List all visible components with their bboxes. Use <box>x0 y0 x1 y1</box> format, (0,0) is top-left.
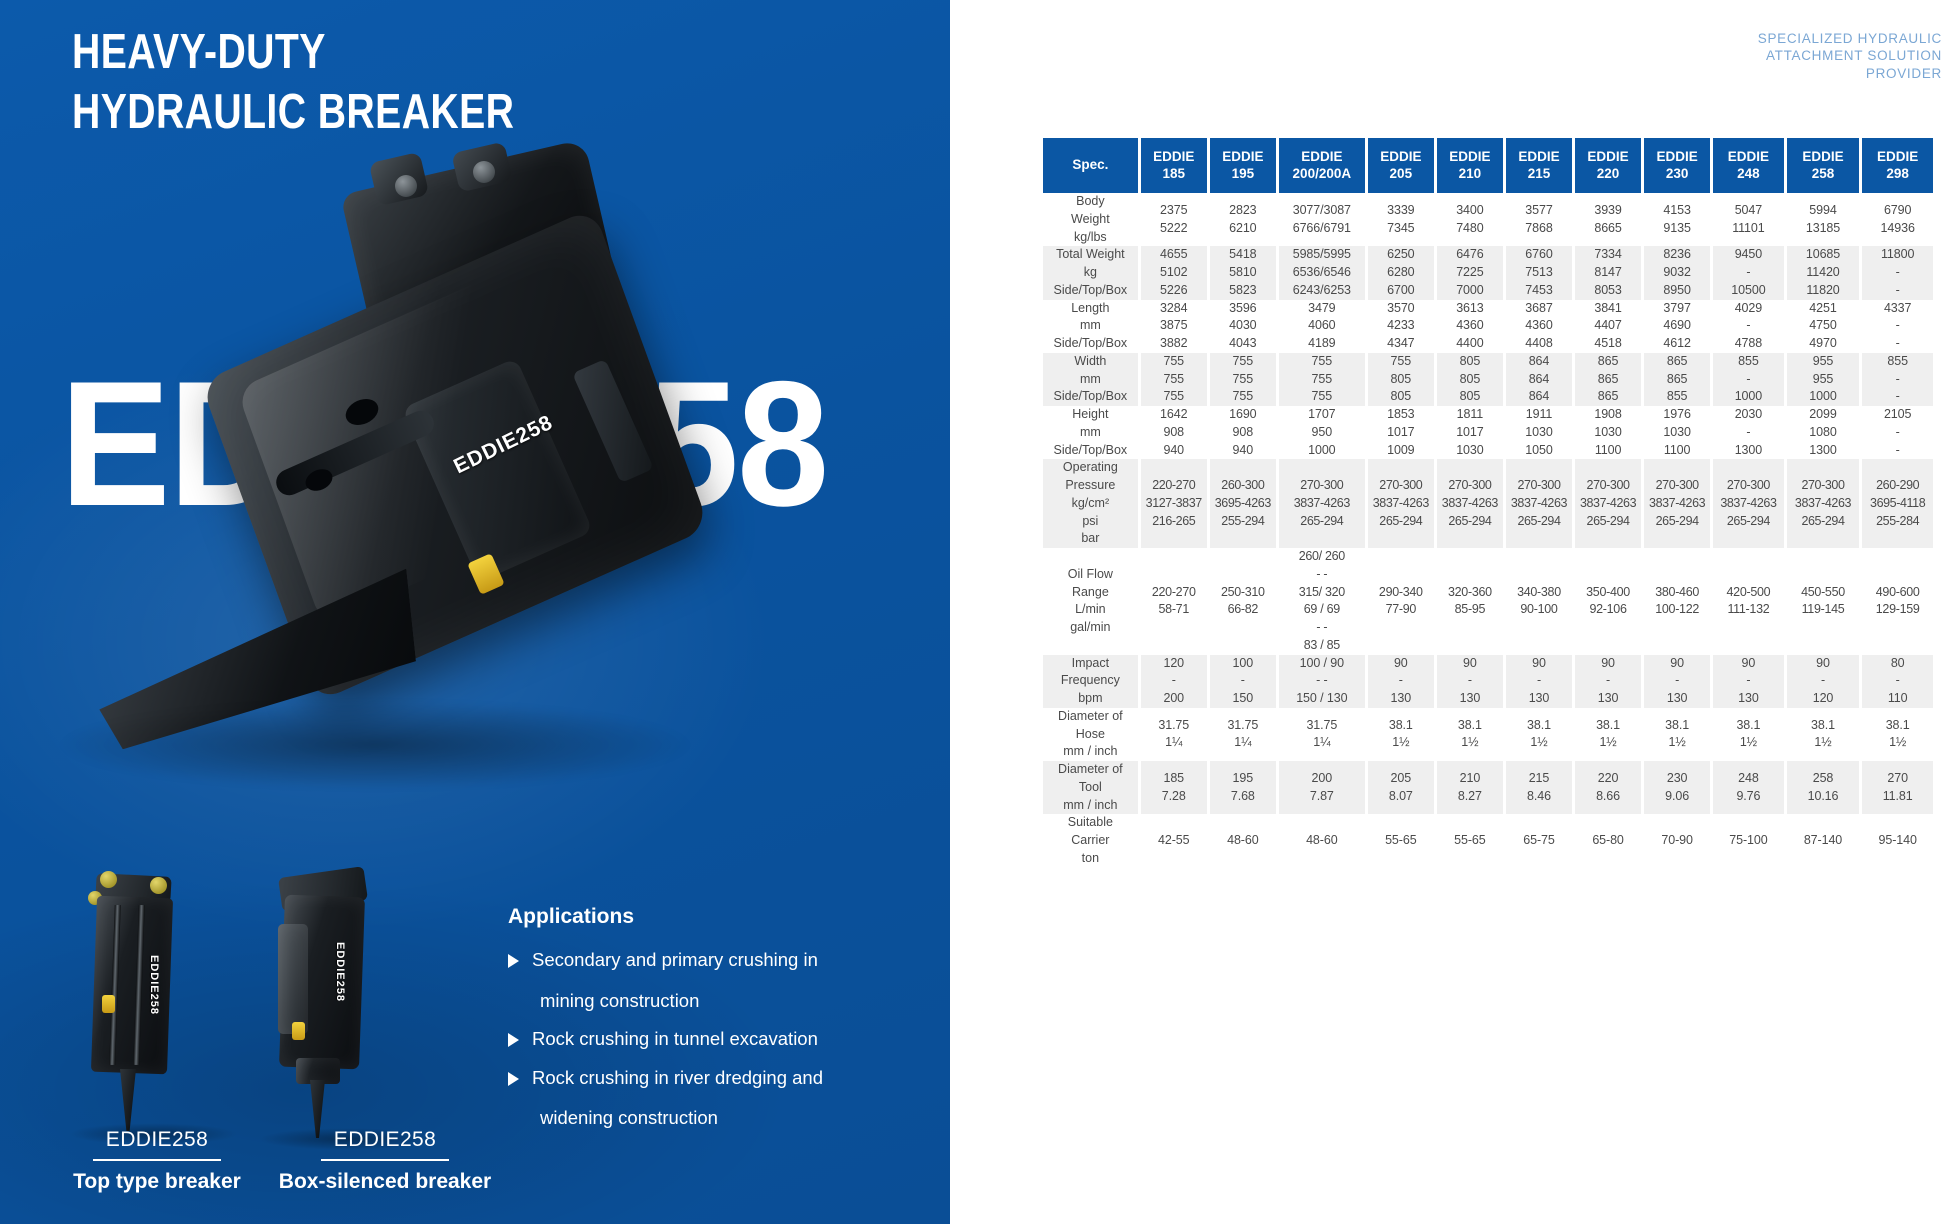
cell-195: 1690 908 940 <box>1210 406 1276 459</box>
bullet-triangle-icon <box>508 954 519 968</box>
cell-210: 90 - 130 <box>1437 655 1503 708</box>
cell-205: 755 805 805 <box>1368 353 1434 406</box>
product-photo-top-type: EDDIE258 <box>78 875 228 1125</box>
cell-185: 220-270 58-71 <box>1141 548 1207 655</box>
tagline-line-3: PROVIDER <box>1758 65 1942 82</box>
spec-header-label: Spec. <box>1043 138 1138 193</box>
table-row: Width mm Side/Top/Box755 755 755755 755 … <box>1043 353 1933 406</box>
cell-230: 8236 9032 8950 <box>1644 246 1710 299</box>
spec-column-header-220: EDDIE220 <box>1575 138 1641 193</box>
cell-215: 3577 7868 <box>1506 193 1572 246</box>
cell-220: 270-300 3837-4263 265-294 <box>1575 459 1641 548</box>
cell-220: 65-80 <box>1575 814 1641 867</box>
table-row: Length mm Side/Top/Box3284 3875 38823596… <box>1043 300 1933 353</box>
cell-220: 3939 8665 <box>1575 193 1641 246</box>
mini1-pin-left <box>100 871 117 888</box>
cell-230: 70-90 <box>1644 814 1710 867</box>
column-brand: EDDIE <box>1657 149 1698 164</box>
mini1-grease-fitting <box>102 995 115 1013</box>
cell-210: 6476 7225 7000 <box>1437 246 1503 299</box>
breaker-pin-right <box>473 161 495 183</box>
cell-298: 4337 - - <box>1862 300 1933 353</box>
cell-258: 10685 11420 11820 <box>1787 246 1860 299</box>
application-item-2-line1: Rock crushing in tunnel excavation <box>532 1028 818 1049</box>
column-brand: EDDIE <box>1728 149 1769 164</box>
hero-ground-shadow <box>55 700 695 790</box>
cell-200-200A: 3479 4060 4189 <box>1279 300 1365 353</box>
cell-185: 4655 5102 5226 <box>1141 246 1207 299</box>
spec-table-header: Spec. EDDIE185EDDIE195EDDIE200/200AEDDIE… <box>1043 138 1933 193</box>
mini2-grease-fitting <box>292 1022 305 1040</box>
cell-230: 38.1 1½ <box>1644 708 1710 761</box>
bullet-triangle-icon <box>508 1072 519 1086</box>
spec-column-header-205: EDDIE205 <box>1368 138 1434 193</box>
mini2-side-label: EDDIE258 <box>334 942 346 1002</box>
cell-248: 90 - 130 <box>1713 655 1783 708</box>
row-label: Oil Flow Range L/min gal/min <box>1043 548 1138 655</box>
table-row: Impact Frequency bpm120 - 200100 - 15010… <box>1043 655 1933 708</box>
cell-298: 490-600 129-159 <box>1862 548 1933 655</box>
row-label: Body Weight kg/lbs <box>1043 193 1138 246</box>
spec-column-header-210: EDDIE210 <box>1437 138 1503 193</box>
cell-195: 250-310 66-82 <box>1210 548 1276 655</box>
cell-230: 4153 9135 <box>1644 193 1710 246</box>
column-brand: EDDIE <box>1518 149 1559 164</box>
cell-195: 5418 5810 5823 <box>1210 246 1276 299</box>
column-model: 185 <box>1162 166 1185 181</box>
mini1-chisel <box>120 1069 136 1131</box>
cell-258: 270-300 3837-4263 265-294 <box>1787 459 1860 548</box>
breaker-pin-left <box>395 175 417 197</box>
cell-210: 210 8.27 <box>1437 761 1503 814</box>
cell-195: 100 - 150 <box>1210 655 1276 708</box>
column-brand: EDDIE <box>1587 149 1628 164</box>
cell-185: 2375 5222 <box>1141 193 1207 246</box>
spec-column-header-200-200A: EDDIE200/200A <box>1279 138 1365 193</box>
cell-258: 2099 1080 1300 <box>1787 406 1860 459</box>
cell-195: 3596 4030 4043 <box>1210 300 1276 353</box>
cell-230: 1976 1030 1100 <box>1644 406 1710 459</box>
cell-230: 90 - 130 <box>1644 655 1710 708</box>
cell-200-200A: 5985/5995 6536/6546 6243/6253 <box>1279 246 1365 299</box>
column-brand: EDDIE <box>1301 149 1342 164</box>
cell-210: 55-65 <box>1437 814 1503 867</box>
row-label: Impact Frequency bpm <box>1043 655 1138 708</box>
cell-248: 4029 - 4788 <box>1713 300 1783 353</box>
cell-185: 42-55 <box>1141 814 1207 867</box>
cell-185: 3284 3875 3882 <box>1141 300 1207 353</box>
cell-215: 270-300 3837-4263 265-294 <box>1506 459 1572 548</box>
cell-195: 48-60 <box>1210 814 1276 867</box>
application-item-1-line2: mining construction <box>540 992 838 1011</box>
cell-210: 320-360 85-95 <box>1437 548 1503 655</box>
cell-185: 185 7.28 <box>1141 761 1207 814</box>
cell-200-200A: 31.75 1¼ <box>1279 708 1365 761</box>
cell-248: 38.1 1½ <box>1713 708 1783 761</box>
mini1-pin-right <box>150 877 167 894</box>
cell-298: 38.1 1½ <box>1862 708 1933 761</box>
cell-210: 270-300 3837-4263 265-294 <box>1437 459 1503 548</box>
cell-220: 350-400 92-106 <box>1575 548 1641 655</box>
cell-248: 855 - 1000 <box>1713 353 1783 406</box>
cell-195: 2823 6210 <box>1210 193 1276 246</box>
column-brand: EDDIE <box>1380 149 1421 164</box>
cell-298: 95-140 <box>1862 814 1933 867</box>
spec-column-header-298: EDDIE298 <box>1862 138 1933 193</box>
cell-258: 258 10.16 <box>1787 761 1860 814</box>
column-brand: EDDIE <box>1153 149 1194 164</box>
cell-258: 955 955 1000 <box>1787 353 1860 406</box>
table-row: Diameter of Hose mm / inch31.75 1¼31.75 … <box>1043 708 1933 761</box>
cell-258: 5994 13185 <box>1787 193 1860 246</box>
cell-258: 450-550 119-145 <box>1787 548 1860 655</box>
cell-258: 90 - 120 <box>1787 655 1860 708</box>
cell-215: 215 8.46 <box>1506 761 1572 814</box>
cell-205: 55-65 <box>1368 814 1434 867</box>
column-brand: EDDIE <box>1449 149 1490 164</box>
cell-298: 80 - 110 <box>1862 655 1933 708</box>
application-item-3-line2: widening construction <box>540 1109 838 1128</box>
cell-220: 220 8.66 <box>1575 761 1641 814</box>
spec-column-header-185: EDDIE185 <box>1141 138 1207 193</box>
cell-195: 755 755 755 <box>1210 353 1276 406</box>
cell-298: 270 11.81 <box>1862 761 1933 814</box>
cell-200-200A: 1707 950 1000 <box>1279 406 1365 459</box>
cell-258: 87-140 <box>1787 814 1860 867</box>
cell-200-200A: 48-60 <box>1279 814 1365 867</box>
column-brand: EDDIE <box>1877 149 1918 164</box>
applications-title: Applications <box>508 905 838 929</box>
application-item-3-line1: Rock crushing in river dredging and <box>532 1067 823 1088</box>
cell-215: 90 - 130 <box>1506 655 1572 708</box>
page-title: HEAVY-DUTY HYDRAULIC BREAKER <box>72 22 680 143</box>
cell-205: 38.1 1½ <box>1368 708 1434 761</box>
cell-248: 420-500 111-132 <box>1713 548 1783 655</box>
caption-divider-2 <box>321 1159 449 1161</box>
mini1-side-label: EDDIE258 <box>148 955 160 1015</box>
specification-table: Spec. EDDIE185EDDIE195EDDIE200/200AEDDIE… <box>1040 138 1936 868</box>
row-label: Suitable Carrier ton <box>1043 814 1138 867</box>
cell-248: 9450 - 10500 <box>1713 246 1783 299</box>
cell-248: 270-300 3837-4263 265-294 <box>1713 459 1783 548</box>
cell-298: 11800 - - <box>1862 246 1933 299</box>
cell-220: 90 - 130 <box>1575 655 1641 708</box>
cell-195: 260-300 3695-4263 255-294 <box>1210 459 1276 548</box>
cell-200-200A: 200 7.87 <box>1279 761 1365 814</box>
cell-210: 1811 1017 1030 <box>1437 406 1503 459</box>
cell-205: 90 - 130 <box>1368 655 1434 708</box>
cell-298: 260-290 3695-4118 255-284 <box>1862 459 1933 548</box>
company-tagline: SPECIALIZED HYDRAULIC ATTACHMENT SOLUTIO… <box>1758 30 1942 82</box>
caption-type-2: Box-silenced breaker <box>190 1170 580 1194</box>
cell-215: 38.1 1½ <box>1506 708 1572 761</box>
table-row: Suitable Carrier ton42-5548-6048-6055-65… <box>1043 814 1933 867</box>
cell-200-200A: 3077/3087 6766/6791 <box>1279 193 1365 246</box>
cell-200-200A: 270-300 3837-4263 265-294 <box>1279 459 1365 548</box>
table-row: Oil Flow Range L/min gal/min220-270 58-7… <box>1043 548 1933 655</box>
breaker-mount-lug-right <box>451 141 513 192</box>
table-row: Total Weight kg Side/Top/Box4655 5102 52… <box>1043 246 1933 299</box>
tagline-line-1: SPECIALIZED HYDRAULIC <box>1758 30 1942 47</box>
cell-200-200A: 100 / 90 - - 150 / 130 <box>1279 655 1365 708</box>
cell-215: 340-380 90-100 <box>1506 548 1572 655</box>
cell-220: 7334 8147 8053 <box>1575 246 1641 299</box>
cell-258: 4251 4750 4970 <box>1787 300 1860 353</box>
cell-220: 38.1 1½ <box>1575 708 1641 761</box>
cell-298: 2105 - - <box>1862 406 1933 459</box>
mini1-body <box>91 896 173 1075</box>
cell-210: 38.1 1½ <box>1437 708 1503 761</box>
column-model: 195 <box>1232 166 1255 181</box>
cell-195: 31.75 1¼ <box>1210 708 1276 761</box>
tagline-line-2: ATTACHMENT SOLUTION <box>1758 47 1942 64</box>
column-model: 210 <box>1459 166 1482 181</box>
spec-column-header-248: EDDIE248 <box>1713 138 1783 193</box>
cell-248: 5047 11101 <box>1713 193 1783 246</box>
column-brand: EDDIE <box>1802 149 1843 164</box>
row-label: Width mm Side/Top/Box <box>1043 353 1138 406</box>
row-label: Diameter of Hose mm / inch <box>1043 708 1138 761</box>
row-label: Height mm Side/Top/Box <box>1043 406 1138 459</box>
spec-column-header-215: EDDIE215 <box>1506 138 1572 193</box>
spec-column-header-195: EDDIE195 <box>1210 138 1276 193</box>
spec-header-row: Spec. EDDIE185EDDIE195EDDIE200/200AEDDIE… <box>1043 138 1933 193</box>
bullet-triangle-icon <box>508 1033 519 1047</box>
cell-298: 6790 14936 <box>1862 193 1933 246</box>
table-row: Operating Pressure kg/cm² psi bar220-270… <box>1043 459 1933 548</box>
cell-258: 38.1 1½ <box>1787 708 1860 761</box>
cell-185: 31.75 1¼ <box>1141 708 1207 761</box>
headline-line-1: HEAVY-DUTY <box>72 22 680 82</box>
headline-line-2: HYDRAULIC BREAKER <box>72 82 680 142</box>
table-row: Height mm Side/Top/Box1642 908 9401690 9… <box>1043 406 1933 459</box>
cell-230: 230 9.06 <box>1644 761 1710 814</box>
column-model: 200/200A <box>1293 166 1352 181</box>
cell-185: 1642 908 940 <box>1141 406 1207 459</box>
application-item-3: Rock crushing in river dredging and wide… <box>508 1069 838 1128</box>
row-label: Diameter of Tool mm / inch <box>1043 761 1138 814</box>
column-model: 220 <box>1597 166 1620 181</box>
cell-195: 195 7.68 <box>1210 761 1276 814</box>
column-brand: EDDIE <box>1222 149 1263 164</box>
row-label: Length mm Side/Top/Box <box>1043 300 1138 353</box>
specification-table-container: Spec. EDDIE185EDDIE195EDDIE200/200AEDDIE… <box>1040 138 1936 868</box>
cell-230: 865 865 855 <box>1644 353 1710 406</box>
cell-210: 3400 7480 <box>1437 193 1503 246</box>
cell-205: 3339 7345 <box>1368 193 1434 246</box>
column-model: 205 <box>1390 166 1413 181</box>
cell-220: 865 865 865 <box>1575 353 1641 406</box>
applications-section: Applications Secondary and primary crush… <box>508 905 838 1148</box>
table-row: Diameter of Tool mm / inch185 7.28195 7.… <box>1043 761 1933 814</box>
cell-205: 6250 6280 6700 <box>1368 246 1434 299</box>
application-item-1: Secondary and primary crushing in mining… <box>508 951 838 1010</box>
cell-230: 380-460 100-122 <box>1644 548 1710 655</box>
spec-column-header-258: EDDIE258 <box>1787 138 1860 193</box>
cell-298: 855 - - <box>1862 353 1933 406</box>
breaker-head-shape <box>340 139 620 351</box>
cell-205: 3570 4233 4347 <box>1368 300 1434 353</box>
cell-215: 65-75 <box>1506 814 1572 867</box>
cell-200-200A: 755 755 755 <box>1279 353 1365 406</box>
cell-215: 864 864 864 <box>1506 353 1572 406</box>
breaker-mount-lug-left <box>369 152 430 207</box>
column-model: 230 <box>1666 166 1689 181</box>
cell-205: 205 8.07 <box>1368 761 1434 814</box>
table-row: Body Weight kg/lbs2375 52222823 62103077… <box>1043 193 1933 246</box>
application-item-2: Rock crushing in tunnel excavation <box>508 1030 838 1049</box>
product-photo-box-silenced: EDDIE258 <box>268 872 428 1127</box>
hero-model-watermark: EDDIE258 <box>60 355 827 533</box>
left-hero-panel: HEAVY-DUTY HYDRAULIC BREAKER EDDIE258 ED… <box>0 0 950 1224</box>
column-model: 215 <box>1528 166 1551 181</box>
cell-185: 220-270 3127-3837 216-265 <box>1141 459 1207 548</box>
cell-248: 2030 - 1300 <box>1713 406 1783 459</box>
cell-210: 3613 4360 4400 <box>1437 300 1503 353</box>
cell-205: 1853 1017 1009 <box>1368 406 1434 459</box>
row-label: Operating Pressure kg/cm² psi bar <box>1043 459 1138 548</box>
spec-column-header-230: EDDIE230 <box>1644 138 1710 193</box>
cell-200-200A: 260/ 260 - - 315/ 320 69 / 69 - - 83 / 8… <box>1279 548 1365 655</box>
cell-230: 3797 4690 4612 <box>1644 300 1710 353</box>
cell-215: 1911 1030 1050 <box>1506 406 1572 459</box>
cell-205: 290-340 77-90 <box>1368 548 1434 655</box>
column-model: 258 <box>1812 166 1835 181</box>
row-label: Total Weight kg Side/Top/Box <box>1043 246 1138 299</box>
mini2-hose-side <box>278 924 308 1034</box>
breaker-grease-fitting <box>467 553 505 595</box>
cell-185: 755 755 755 <box>1141 353 1207 406</box>
cell-215: 6760 7513 7453 <box>1506 246 1572 299</box>
cell-185: 120 - 200 <box>1141 655 1207 708</box>
cell-220: 3841 4407 4518 <box>1575 300 1641 353</box>
column-model: 248 <box>1737 166 1760 181</box>
cell-248: 75-100 <box>1713 814 1783 867</box>
cell-210: 805 805 805 <box>1437 353 1503 406</box>
cell-215: 3687 4360 4408 <box>1506 300 1572 353</box>
application-item-1-line1: Secondary and primary crushing in <box>532 949 818 970</box>
column-model: 298 <box>1886 166 1909 181</box>
cell-205: 270-300 3837-4263 265-294 <box>1368 459 1434 548</box>
cell-220: 1908 1030 1100 <box>1575 406 1641 459</box>
cell-230: 270-300 3837-4263 265-294 <box>1644 459 1710 548</box>
spec-table-body: Body Weight kg/lbs2375 52222823 62103077… <box>1043 193 1933 868</box>
cell-248: 248 9.76 <box>1713 761 1783 814</box>
